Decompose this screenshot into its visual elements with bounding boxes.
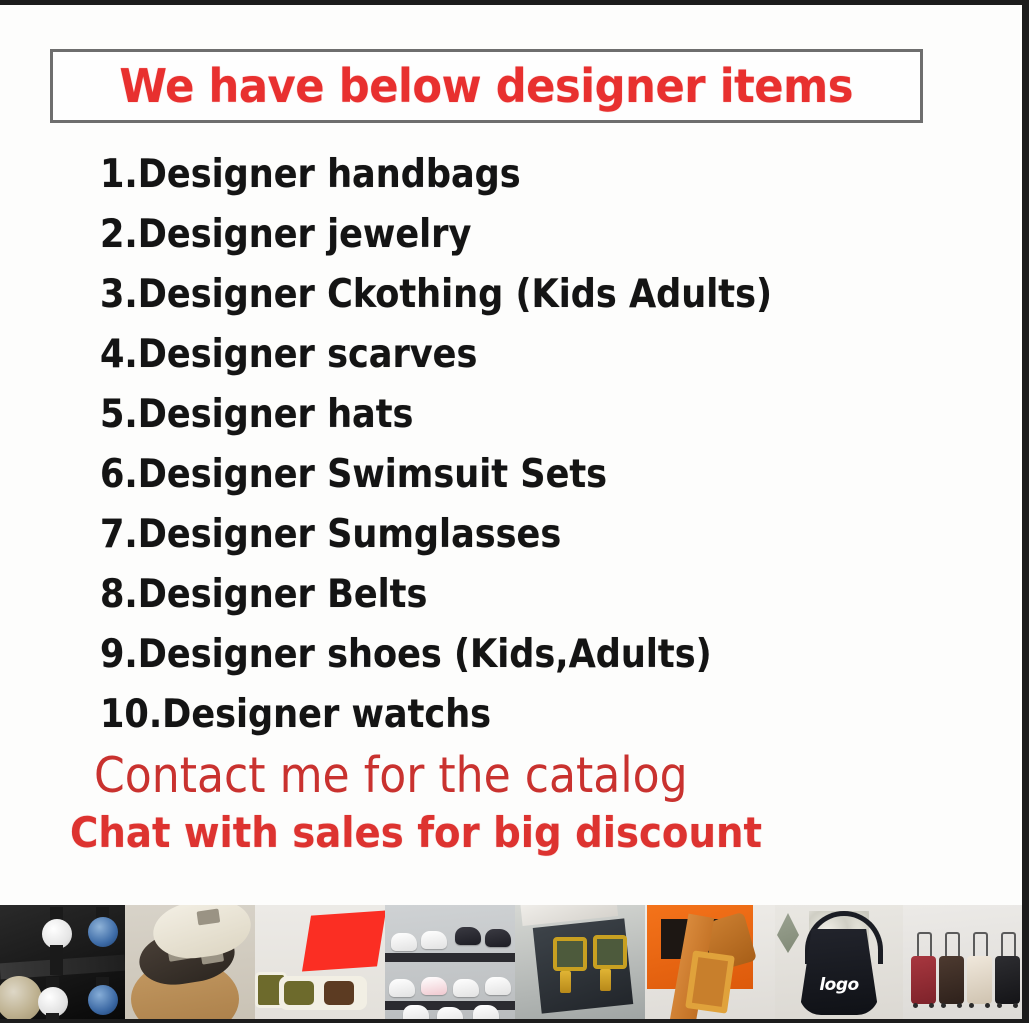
shoe-shelf [385, 953, 515, 962]
suitcase-handle [917, 932, 932, 956]
contact-catalog-text: Contact me for the catalog [94, 747, 688, 805]
suitcase-wheel [941, 1003, 946, 1008]
handbag-body: logo [799, 929, 879, 1015]
photo-panel-belts [645, 905, 775, 1023]
list-item: 3.Designer Ckothing (Kids Adults) [100, 265, 874, 325]
suitcase-handle [973, 932, 988, 956]
chat-sales-discount-text: Chat with sales for big discount [70, 807, 762, 859]
photo-panel-luggage [903, 905, 1022, 1023]
decorative-leaf [777, 913, 799, 953]
photo-panel-handbag: logo [775, 905, 903, 1023]
list-item: 4.Designer scarves [100, 325, 874, 385]
jewelry-stem [600, 969, 611, 991]
list-item: 2.Designer jewelry [100, 205, 874, 265]
handbag-logo-text: logo [799, 975, 879, 995]
list-item: 5.Designer hats [100, 385, 874, 445]
watch-band [50, 945, 63, 975]
watch-face-blue [88, 985, 118, 1015]
designer-items-list: 1.Designer handbags 2.Designer jewelry 3… [100, 145, 960, 745]
photo-panel-sunglasses [255, 905, 385, 1023]
photo-panel-hats [125, 905, 255, 1023]
page-title: We have below designer items [120, 59, 854, 113]
red-card [302, 910, 385, 971]
suitcase-wheel [929, 1003, 934, 1008]
watch-band [46, 1013, 59, 1023]
suitcase-black [995, 956, 1020, 1004]
photo-panel-jewelry [515, 905, 645, 1023]
sneaker [473, 1005, 499, 1023]
jewelry-piece [593, 935, 627, 969]
title-box: We have below designer items [50, 49, 923, 123]
list-item: 1.Designer handbags [100, 145, 874, 205]
sneaker [455, 927, 481, 945]
list-item: 8.Designer Belts [100, 565, 874, 625]
jewelry-piece [553, 937, 587, 971]
suitcase-wheel [1013, 1003, 1018, 1008]
sneaker [403, 1005, 429, 1023]
suitcase-wheel [913, 1003, 918, 1008]
suitcase-brown [939, 956, 964, 1004]
sneaker [453, 979, 479, 997]
sunglasses-lens-right [324, 981, 354, 1005]
sneaker [421, 977, 447, 995]
suitcase-handle [1001, 932, 1016, 956]
sneaker [391, 933, 417, 951]
belt-buckle [685, 950, 735, 1013]
sunglasses-frame [279, 976, 367, 1010]
photo-panel-watches [0, 905, 125, 1023]
sneaker [485, 977, 511, 995]
suitcase-wheel [957, 1003, 962, 1008]
photo-panel-shoes [385, 905, 515, 1023]
sneaker [437, 1007, 463, 1023]
list-item: 9.Designer shoes (Kids,Adults) [100, 625, 874, 685]
product-photo-strip: logo [0, 905, 1022, 1023]
list-item: 7.Designer Sumglasses [100, 505, 874, 565]
list-item: 10.Designer watchs [100, 685, 874, 745]
sneaker [421, 931, 447, 949]
hat-band [197, 909, 221, 926]
suitcase-wheel [985, 1003, 990, 1008]
sneaker [389, 979, 415, 997]
sneaker [485, 929, 511, 947]
sunglasses-lens-left [284, 981, 314, 1005]
list-item: 6.Designer Swimsuit Sets [100, 445, 874, 505]
suitcase-red [911, 956, 936, 1004]
suitcase-wheel [997, 1003, 1002, 1008]
jewelry-stem [560, 971, 571, 993]
suitcase-handle [945, 932, 960, 956]
coin-ornament [0, 976, 42, 1022]
watch-face-blue [88, 917, 118, 947]
designer-items-poster: We have below designer items 1.Designer … [0, 0, 1029, 1023]
suitcase-wheel [969, 1003, 974, 1008]
suitcase-cream [967, 956, 992, 1004]
